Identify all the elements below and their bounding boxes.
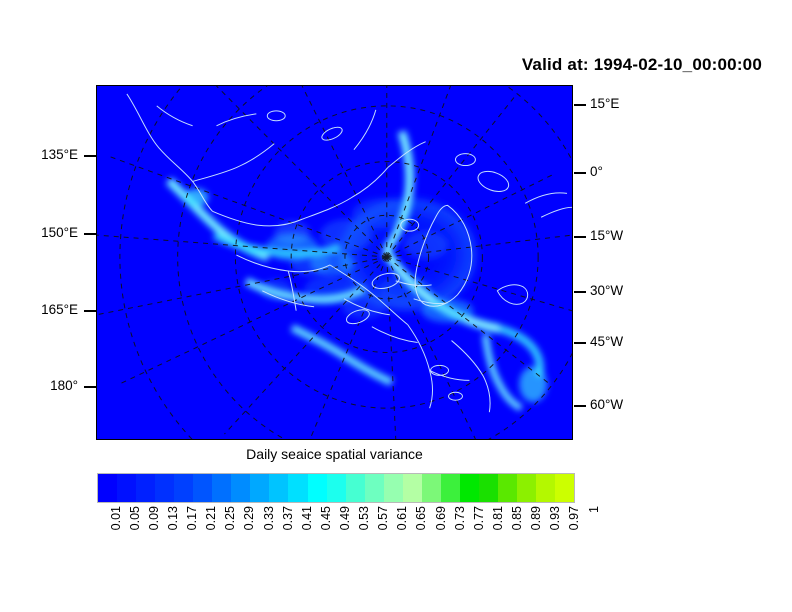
colorbar-band <box>365 474 384 502</box>
map-plot-area <box>96 85 573 440</box>
map-svg <box>97 86 572 439</box>
colorbar-tick-label: 0.17 <box>186 506 199 530</box>
colorbar-tick-label: 0.97 <box>568 506 581 530</box>
colorbar-tick-label: 0.61 <box>396 506 409 530</box>
colorbar-band <box>136 474 155 502</box>
colorbar-band <box>384 474 403 502</box>
right-axis-label: 60°W <box>590 398 623 412</box>
colorbar-tick-label: 0.33 <box>263 506 276 530</box>
left-axis-label: 135°E <box>41 148 78 162</box>
right-axis-label: 15°E <box>590 97 619 111</box>
left-axis-label: 165°E <box>41 303 78 317</box>
figure-canvas: Valid at: 1994-02-10_00:00:00 <box>0 0 792 612</box>
colorbar-band <box>479 474 498 502</box>
left-axis-tick <box>84 155 96 157</box>
left-axis-tick <box>84 386 96 388</box>
colorbar-band <box>498 474 517 502</box>
colorbar-tick-label: 0.05 <box>129 506 142 530</box>
colorbar-band <box>460 474 479 502</box>
colorbar-band <box>441 474 460 502</box>
right-axis-tick <box>574 342 586 344</box>
colorbar-tick-label: 0.77 <box>473 506 486 530</box>
left-axis-label: 180° <box>50 379 78 393</box>
colorbar-tick-label: 0.45 <box>320 506 333 530</box>
colorbar-tick-label: 0.37 <box>282 506 295 530</box>
right-axis-tick <box>574 236 586 238</box>
colorbar-tick-labels: 0.010.050.090.130.170.210.250.290.330.37… <box>97 506 575 576</box>
colorbar-band <box>346 474 365 502</box>
colorbar-tick-label: 0.81 <box>492 506 505 530</box>
colorbar-tick-label: 0.53 <box>358 506 371 530</box>
figure-title: Valid at: 1994-02-10_00:00:00 <box>0 55 762 75</box>
right-axis-label: 0° <box>590 165 603 179</box>
map-caption: Daily seaice spatial variance <box>96 446 573 462</box>
colorbar-band <box>517 474 536 502</box>
right-axis-tick <box>574 291 586 293</box>
colorbar-band <box>308 474 327 502</box>
right-axis-label: 30°W <box>590 284 623 298</box>
left-axis-tick <box>84 310 96 312</box>
colorbar <box>97 473 575 503</box>
colorbar-band <box>250 474 269 502</box>
colorbar-tick-label: 0.41 <box>301 506 314 530</box>
colorbar-bands <box>97 473 575 503</box>
colorbar-tick-label: 0.13 <box>167 506 180 530</box>
colorbar-band <box>212 474 231 502</box>
colorbar-tick-label: 0.57 <box>377 506 390 530</box>
colorbar-tick-label: 0.49 <box>339 506 352 530</box>
right-axis-tick <box>574 405 586 407</box>
right-axis-tick <box>574 104 586 106</box>
colorbar-band <box>98 474 117 502</box>
colorbar-band <box>288 474 307 502</box>
colorbar-tick-label: 0.65 <box>415 506 428 530</box>
right-axis-tick <box>574 172 586 174</box>
colorbar-tick-label: 0.21 <box>205 506 218 530</box>
left-axis-tick <box>84 233 96 235</box>
colorbar-tick-label: 0.73 <box>454 506 467 530</box>
right-axis-label: 45°W <box>590 335 623 349</box>
colorbar-band <box>117 474 136 502</box>
right-axis-label: 15°W <box>590 229 623 243</box>
colorbar-band <box>231 474 250 502</box>
colorbar-tick-label: 0.89 <box>530 506 543 530</box>
colorbar-tick-label: 0.93 <box>549 506 562 530</box>
colorbar-band <box>193 474 212 502</box>
colorbar-band <box>155 474 174 502</box>
colorbar-band <box>403 474 422 502</box>
colorbar-band <box>327 474 346 502</box>
colorbar-band <box>174 474 193 502</box>
colorbar-tick-label: 0.25 <box>224 506 237 530</box>
colorbar-band <box>536 474 555 502</box>
colorbar-tick-label: 1 <box>588 506 601 513</box>
colorbar-band <box>555 474 574 502</box>
colorbar-tick-label: 0.09 <box>148 506 161 530</box>
colorbar-tick-label: 0.69 <box>435 506 448 530</box>
colorbar-band <box>269 474 288 502</box>
left-axis-label: 150°E <box>41 226 78 240</box>
colorbar-band <box>422 474 441 502</box>
colorbar-tick-label: 0.01 <box>110 506 123 530</box>
colorbar-tick-label: 0.29 <box>243 506 256 530</box>
colorbar-tick-label: 0.85 <box>511 506 524 530</box>
